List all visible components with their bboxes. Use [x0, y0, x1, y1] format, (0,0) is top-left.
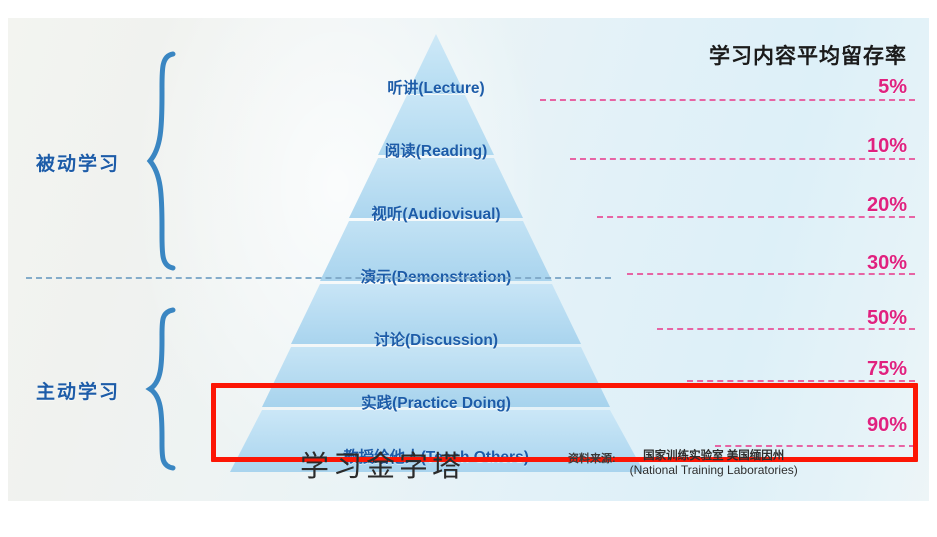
percent-value-practice-doing: 75%	[867, 358, 907, 381]
percent-value-discussion: 50%	[867, 307, 907, 330]
retention-rate-header: 学习内容平均留存率	[709, 40, 907, 70]
leader-line-reading	[570, 158, 915, 160]
source-name-en: (National Training Laboratories)	[630, 463, 798, 478]
source-text: 国家训练实验室 美国缅因州 (National Training Laborat…	[630, 449, 798, 478]
page-title: 学习金字塔	[300, 443, 465, 485]
slide-panel: 学习内容平均留存率	[8, 18, 929, 521]
tier-label-discussion: 讨论(Discussion)	[222, 328, 650, 350]
tier-label-lecture: 听讲(Lecture)	[222, 76, 650, 98]
percent-value-reading: 10%	[867, 135, 907, 158]
leader-line-practice-doing	[687, 380, 915, 382]
passive-learning-brace	[145, 50, 179, 272]
bottom-white-strip	[8, 501, 929, 521]
source-attribution: 资料来源: 国家训练实验室 美国缅因州 (National Training L…	[568, 449, 798, 478]
percent-value-demonstration: 30%	[867, 252, 907, 275]
percent-value-audiovisual: 20%	[867, 194, 907, 217]
percent-value-lecture: 5%	[878, 76, 907, 99]
group-label-passive-learning: 被动学习	[36, 149, 120, 176]
passive-active-divider	[26, 277, 611, 279]
source-name-cn: 国家训练实验室 美国缅因州	[630, 449, 798, 463]
group-label-active-learning: 主动学习	[36, 377, 120, 404]
source-label: 资料来源:	[568, 449, 616, 466]
leader-line-audiovisual	[597, 216, 915, 218]
tier-label-demonstration: 演示(Demonstration)	[222, 265, 650, 287]
leader-line-discussion	[657, 328, 915, 330]
leader-line-lecture	[540, 99, 915, 101]
tier-label-audiovisual: 视听(Audiovisual)	[222, 202, 650, 224]
leader-line-demonstration	[627, 273, 915, 275]
learning-pyramid-slide: 学习内容平均留存率	[0, 0, 937, 537]
footer: 学习金字塔 资料来源: 国家训练实验室 美国缅因州 (National Trai…	[8, 441, 929, 499]
